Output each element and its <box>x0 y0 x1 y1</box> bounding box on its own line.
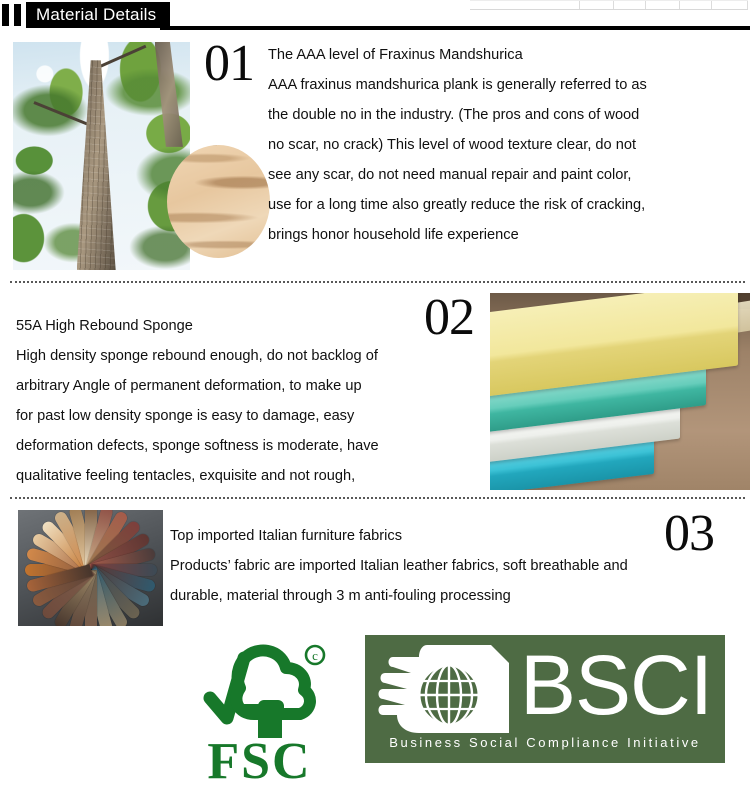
section-03-line-1: Products’ fabric are imported Italian le… <box>170 551 628 581</box>
wood-grain-sample-photo <box>167 145 270 258</box>
header-rule <box>160 26 750 30</box>
bsci-certification-logo: BSCI Business Social Compliance Initiati… <box>365 635 725 763</box>
section-02-heading: 55A High Rebound Sponge <box>16 311 193 341</box>
section-02-line-2: arbitrary Angle of permanent deformation… <box>16 371 362 401</box>
foam-sponge-stack-photo <box>490 293 750 490</box>
section-01-line-6: brings honor household life experience <box>268 220 519 250</box>
section-02-line-4: deformation defects, sponge softness is … <box>16 431 379 461</box>
wood-grain-texture <box>167 145 270 258</box>
section-01-line-2: the double no in the industry. (The pros… <box>268 100 639 130</box>
section-01-line-1: AAA fraxinus mandshurica plank is genera… <box>268 70 647 100</box>
section-01-heading: The AAA level of Fraxinus Mandshurica <box>268 40 523 70</box>
section-divider <box>10 497 745 499</box>
section-number-01: 01 <box>204 38 254 90</box>
section-02-line-3: for past low density sponge is easy to d… <box>16 401 354 431</box>
section-01-line-3: no scar, no crack) This level of wood te… <box>268 130 636 160</box>
section-01-line-4: see any scar, do not need manual repair … <box>268 160 631 190</box>
section-02-line-1: High density sponge rebound enough, do n… <box>16 341 378 371</box>
double-bar-icon <box>14 4 21 26</box>
page-header: Material Details <box>0 2 750 28</box>
bsci-tagline: Business Social Compliance Initiative <box>365 735 725 750</box>
fsc-wordmark: FSC <box>182 736 337 788</box>
bsci-wordmark: BSCI <box>520 637 712 733</box>
page-title: Material Details <box>26 2 170 28</box>
section-01-line-5: use for a long time also greatly reduce … <box>268 190 645 220</box>
section-03-line-2: durable, material through 3 m anti-fouli… <box>170 581 511 611</box>
svg-text:c: c <box>312 648 318 663</box>
section-number-02: 02 <box>424 292 474 344</box>
leather-swatch-fan-photo <box>18 510 163 626</box>
section-03-heading: Top imported Italian furniture fabrics <box>170 521 402 551</box>
section-number-03: 03 <box>664 508 714 560</box>
section-02-line-5: qualitative feeling tentacles, exquisite… <box>16 461 355 491</box>
section-divider <box>10 281 745 283</box>
fsc-certification-logo: c FSC <box>182 640 337 790</box>
hand-holding-globe-icon <box>375 641 515 737</box>
ash-tree-photo <box>13 42 190 270</box>
double-bar-icon <box>2 4 9 26</box>
copyright-icon: c <box>306 646 324 664</box>
